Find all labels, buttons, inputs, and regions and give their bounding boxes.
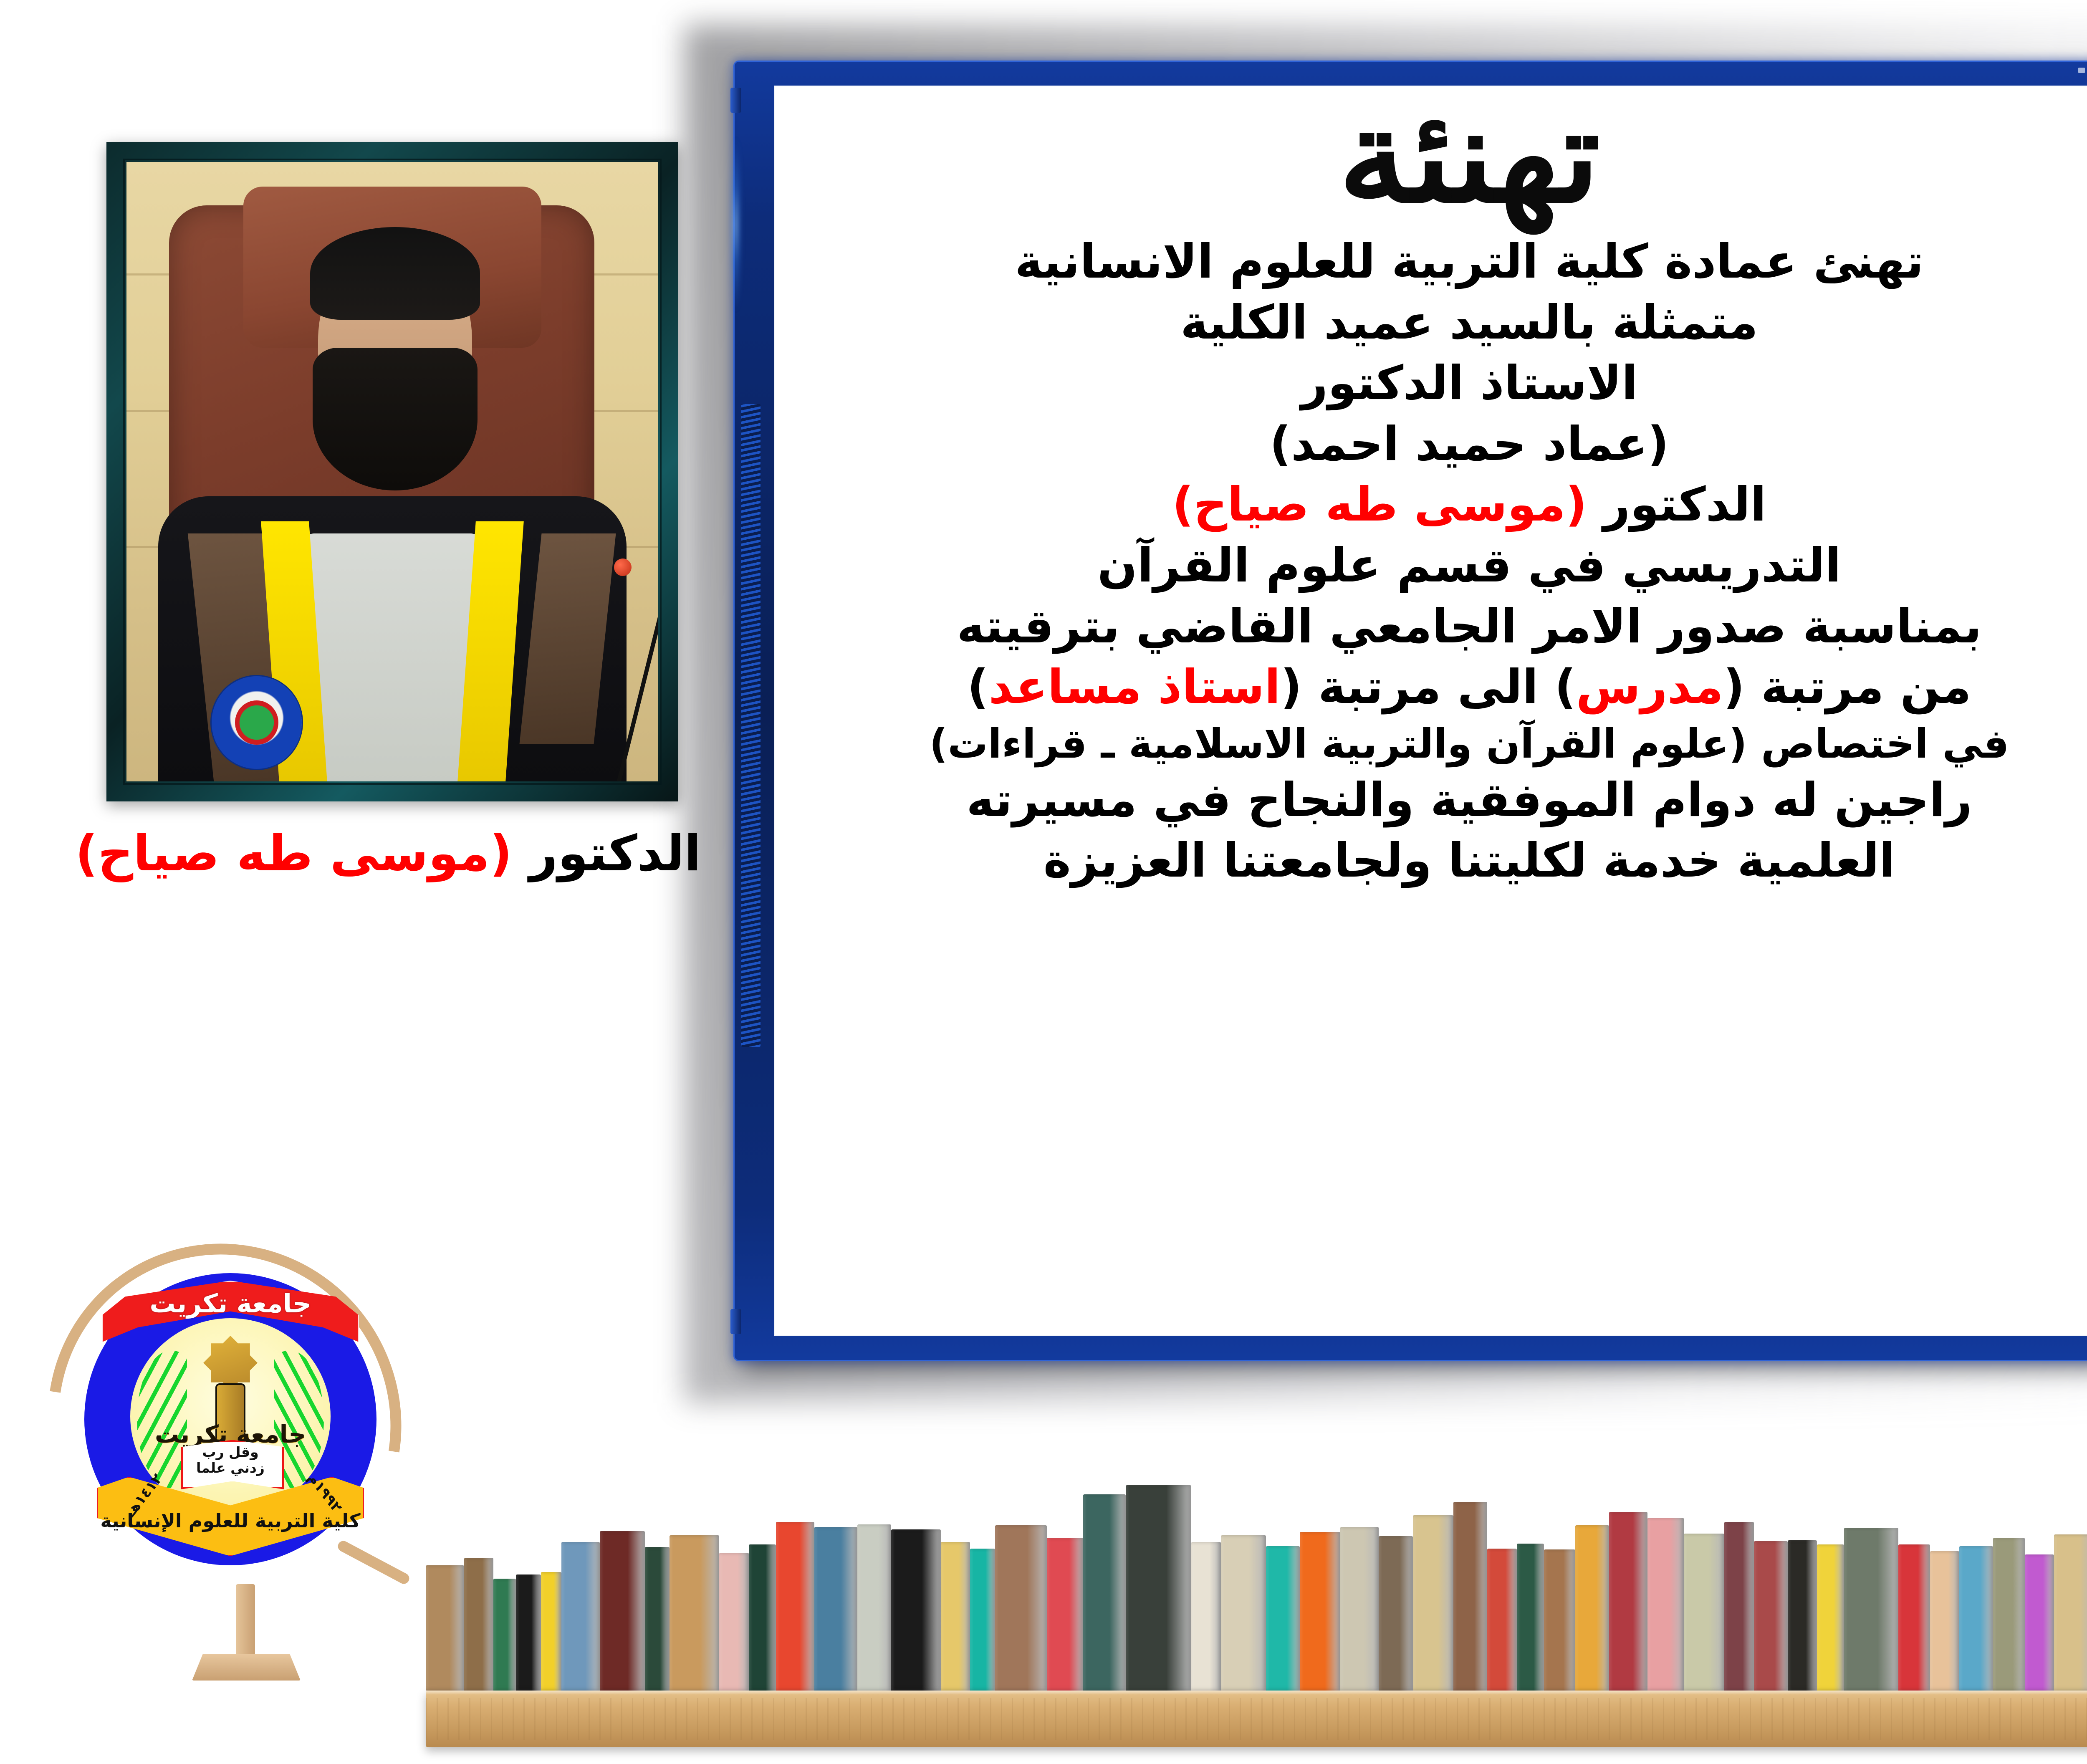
- book-spine: [1684, 1534, 1724, 1691]
- globe-support-arm: [336, 1539, 411, 1586]
- book-spine: [561, 1542, 600, 1691]
- book-row: [426, 1457, 2087, 1691]
- book-spine: [1575, 1525, 1609, 1691]
- shelf-wood-grain: [426, 1698, 2087, 1740]
- book-line-1: وقل رب: [202, 1444, 258, 1460]
- book-spine: [2025, 1554, 2054, 1691]
- book-spine: [1788, 1540, 1817, 1691]
- book-spine: [1817, 1544, 1844, 1691]
- book-spine: [1126, 1485, 1191, 1691]
- book-spine: [1379, 1536, 1412, 1691]
- book-spine: [1754, 1541, 1788, 1691]
- book-spine: [670, 1535, 719, 1691]
- bookshelf-decoration: [426, 1411, 2087, 1764]
- book-spine: [814, 1527, 857, 1691]
- book-spine: [749, 1544, 776, 1691]
- book-spine: [541, 1572, 561, 1691]
- book-spine: [1724, 1522, 1753, 1691]
- book-spine: [891, 1529, 941, 1691]
- body-line-8-part-4: استاذ مساعد: [988, 660, 1280, 714]
- body-line-8-part-1: من مرتبة (: [1723, 660, 1971, 714]
- body-line-3: الاستاذ الدكتور: [812, 353, 2087, 414]
- book-spine: [426, 1565, 464, 1691]
- congratulation-card-body: تهنئة تهنئ عمادة كلية التربية للعلوم الا…: [774, 86, 2087, 1336]
- book-spine: [600, 1531, 645, 1691]
- body-line-8: من مرتبة (مدرس) الى مرتبة (استاذ مساعد): [812, 657, 2087, 718]
- book-line-2: زدني علما: [196, 1460, 265, 1476]
- frame-notch-bottom-left: [730, 1309, 741, 1334]
- frame-ribbed-texture-left: [741, 404, 761, 1047]
- body-line-6-part-1: التدريسي في قسم علوم القرآن: [1097, 538, 1841, 593]
- book-spine: [1898, 1544, 1930, 1691]
- body-line-5-part-1: الدكتور: [1587, 478, 1766, 532]
- honoree-photo-frame: [106, 142, 678, 801]
- frame-corner-marks: [2078, 68, 2087, 73]
- body-line-2-part-1: متمثلة بالسيد عميد الكلية: [1180, 296, 1758, 350]
- body-line-8-part-5: ): [967, 660, 988, 714]
- body-line-6: التدريسي في قسم علوم القرآن: [812, 536, 2087, 596]
- dress-shirt: [302, 533, 483, 781]
- book-spine: [1453, 1502, 1487, 1691]
- book-spine: [1993, 1538, 2025, 1691]
- honoree-photo: [126, 162, 658, 781]
- book-spine: [1647, 1518, 1684, 1691]
- book-spine: [970, 1549, 995, 1691]
- book-spine: [1413, 1515, 1453, 1691]
- body-line-5-part-2: (موسى طه صياح): [1172, 478, 1587, 532]
- book-spine: [1844, 1528, 1898, 1691]
- body-line-3-part-1: الاستاذ الدكتور: [1301, 356, 1638, 410]
- university-name-label: جامعة تكريت: [102, 1288, 359, 1319]
- page-title: تهنئة: [719, 86, 2087, 221]
- book-spine: [1487, 1549, 1516, 1691]
- university-logo: جامعة تكريت وقل رب زدني علما جامعة تكريت…: [46, 1227, 463, 1695]
- body-line-7-part-1: بمناسبة صدور الامر الجامعي القاضي بترقيت…: [957, 599, 1981, 654]
- book-spine: [1266, 1546, 1300, 1691]
- book-spine: [719, 1553, 748, 1691]
- body-line-10: راجين له دوام الموفقية والنجاح في مسيرته: [812, 770, 2087, 831]
- body-line-5: الدكتور (موسى طه صياح): [812, 475, 2087, 536]
- book-spine: [1340, 1527, 1379, 1691]
- book-spine: [776, 1522, 814, 1691]
- book-spine: [1221, 1535, 1266, 1691]
- body-line-9-part-1: في اختصاص (علوم القرآن والتربية الاسلامي…: [930, 720, 2009, 767]
- book-spine: [857, 1524, 891, 1691]
- body-line-10-part-1: راجين له دوام الموفقية والنجاح في مسيرته: [966, 773, 1972, 827]
- beard: [313, 348, 478, 490]
- globe-stand-post: [236, 1584, 255, 1657]
- book-spine: [1047, 1538, 1083, 1691]
- caption-name: (موسى طه صياح): [75, 824, 512, 882]
- body-line-4-part-1: (عماد حميد احمد): [1270, 417, 1669, 471]
- book-spine: [1517, 1544, 1544, 1691]
- book-spine: [941, 1542, 970, 1691]
- honoree-photo-caption: الدكتور (موسى طه صياح): [25, 824, 751, 882]
- body-line-11: العلمية خدمة لكليتنا ولجامعتنا العزيزة: [812, 831, 2087, 892]
- wooden-shelf-board: [426, 1691, 2087, 1747]
- body-line-9: في اختصاص (علوم القرآن والتربية الاسلامي…: [812, 718, 2087, 770]
- globe-stand-base: [192, 1654, 301, 1681]
- book-spine: [516, 1574, 541, 1691]
- book-spine: [1930, 1551, 1959, 1691]
- book-inscription: وقل رب زدني علما: [181, 1444, 280, 1476]
- caption-prefix: الدكتور: [512, 824, 701, 882]
- book-spine: [995, 1525, 1047, 1691]
- body-line-2: متمثلة بالسيد عميد الكلية: [812, 293, 2087, 354]
- body-line-1: تهنئ عمادة كلية التربية للعلوم الانسانية: [812, 232, 2087, 293]
- book-spine: [645, 1547, 670, 1691]
- body-line-8-part-3: ) الى مرتبة (: [1281, 660, 1576, 714]
- book-spine: [493, 1579, 516, 1691]
- book-spine: [1544, 1549, 1576, 1691]
- body-line-1-part-1: تهنئ عمادة كلية التربية للعلوم الانسانية: [1015, 235, 1923, 289]
- body-line-4: (عماد حميد احمد): [812, 414, 2087, 475]
- congratulation-body-text: تهنئ عمادة كلية التربية للعلوم الانسانية…: [774, 221, 2087, 892]
- microphone-head: [614, 559, 632, 576]
- book-spine: [1959, 1546, 1993, 1691]
- book-spine: [464, 1558, 493, 1691]
- book-spine: [1191, 1542, 1220, 1691]
- book-spine: [1300, 1532, 1340, 1691]
- body-line-7: بمناسبة صدور الامر الجامعي القاضي بترقيت…: [812, 596, 2087, 657]
- seal-star-emblem: [203, 1336, 258, 1390]
- body-line-8-part-2: مدرس: [1576, 660, 1723, 714]
- book-spine: [2054, 1534, 2087, 1691]
- book-spine: [1609, 1512, 1647, 1691]
- hair: [310, 227, 480, 320]
- book-spine: [1083, 1494, 1126, 1691]
- university-seal: جامعة تكريت وقل رب زدني علما جامعة تكريت…: [84, 1273, 376, 1565]
- robe-crest-badge: [212, 676, 302, 769]
- body-line-11-part-1: العلمية خدمة لكليتنا ولجامعتنا العزيزة: [1043, 834, 1895, 888]
